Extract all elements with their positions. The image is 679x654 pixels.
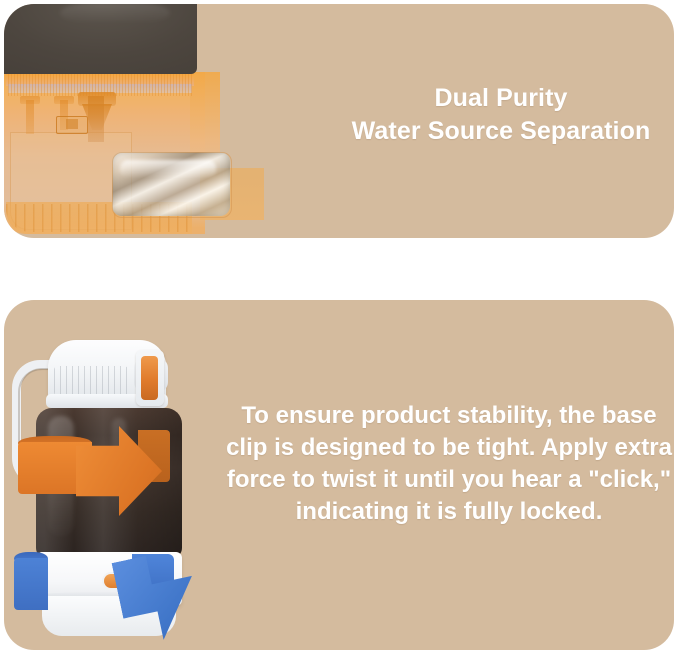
- feature-panel: Dual Purity Water Source Separation: [4, 4, 674, 238]
- instruction-panel: To ensure product stability, the base cl…: [4, 300, 674, 650]
- xray-support-column: [26, 100, 34, 134]
- bottle-cap-clip-latch: [141, 356, 158, 400]
- bottle-cap-ridges: [54, 366, 128, 396]
- headline-line-2: Water Source Separation: [328, 115, 674, 148]
- xray-straw-stem: [88, 96, 104, 142]
- headline-line-1: Dual Purity: [328, 82, 674, 115]
- xray-valve-core: [66, 119, 78, 129]
- product-infographic: Dual Purity Water Source Separation: [0, 0, 679, 654]
- xray-filter-pad-outline: [112, 152, 232, 218]
- feature-headline: Dual Purity Water Source Separation: [328, 82, 674, 148]
- xray-cutaway-illustration: [4, 4, 304, 238]
- bottle-illustration: [8, 318, 218, 638]
- instruction-text: To ensure product stability, the base cl…: [225, 400, 673, 528]
- lid-gloss-highlight: [60, 4, 170, 24]
- blue-band-left: [14, 558, 48, 610]
- xray-support-cap: [20, 96, 40, 104]
- xray-bottle-lid: [4, 4, 197, 74]
- xray-support-cap: [54, 96, 74, 104]
